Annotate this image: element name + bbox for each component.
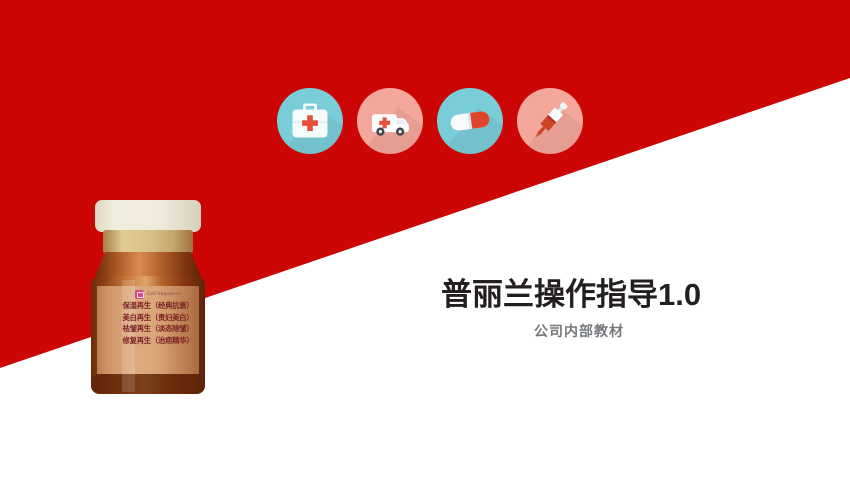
presentation-slide: Cell Sequence 保湿再生（经典抗衰） 美白再生（贵妇美白） 祛皱再生…	[0, 0, 850, 478]
title-block: 普丽兰操作指导1.0 公司内部教材	[441, 279, 801, 341]
vial-brand-row: Cell Sequence	[82, 288, 234, 300]
page-title: 普丽兰操作指导1.0	[441, 279, 801, 312]
capsule-pill-icon	[437, 88, 503, 154]
vial-label-line: 修复再生（治疤精华）	[82, 335, 234, 347]
syringe-icon	[517, 88, 583, 154]
capsule-pill-glyph	[437, 88, 503, 154]
product-vial: Cell Sequence 保湿再生（经典抗衰） 美白再生（贵妇美白） 祛皱再生…	[82, 196, 234, 402]
medical-kit-glyph	[277, 88, 343, 154]
brand-logo-icon	[135, 290, 144, 299]
ambulance-icon	[357, 88, 423, 154]
vial-label-text: Cell Sequence 保湿再生（经典抗衰） 美白再生（贵妇美白） 祛皱再生…	[82, 288, 234, 346]
page-subtitle: 公司内部教材	[441, 321, 717, 341]
syringe-glyph	[517, 88, 583, 154]
medical-icon-row	[277, 88, 583, 154]
vial-label-line: 美白再生（贵妇美白）	[82, 312, 234, 324]
vial-brand-text: Cell Sequence	[147, 292, 181, 297]
medical-kit-icon	[277, 88, 343, 154]
vial-label-line: 祛皱再生（淡态除皱）	[82, 323, 234, 335]
ambulance-glyph	[357, 88, 423, 154]
vial-label-line: 保湿再生（经典抗衰）	[82, 300, 234, 312]
